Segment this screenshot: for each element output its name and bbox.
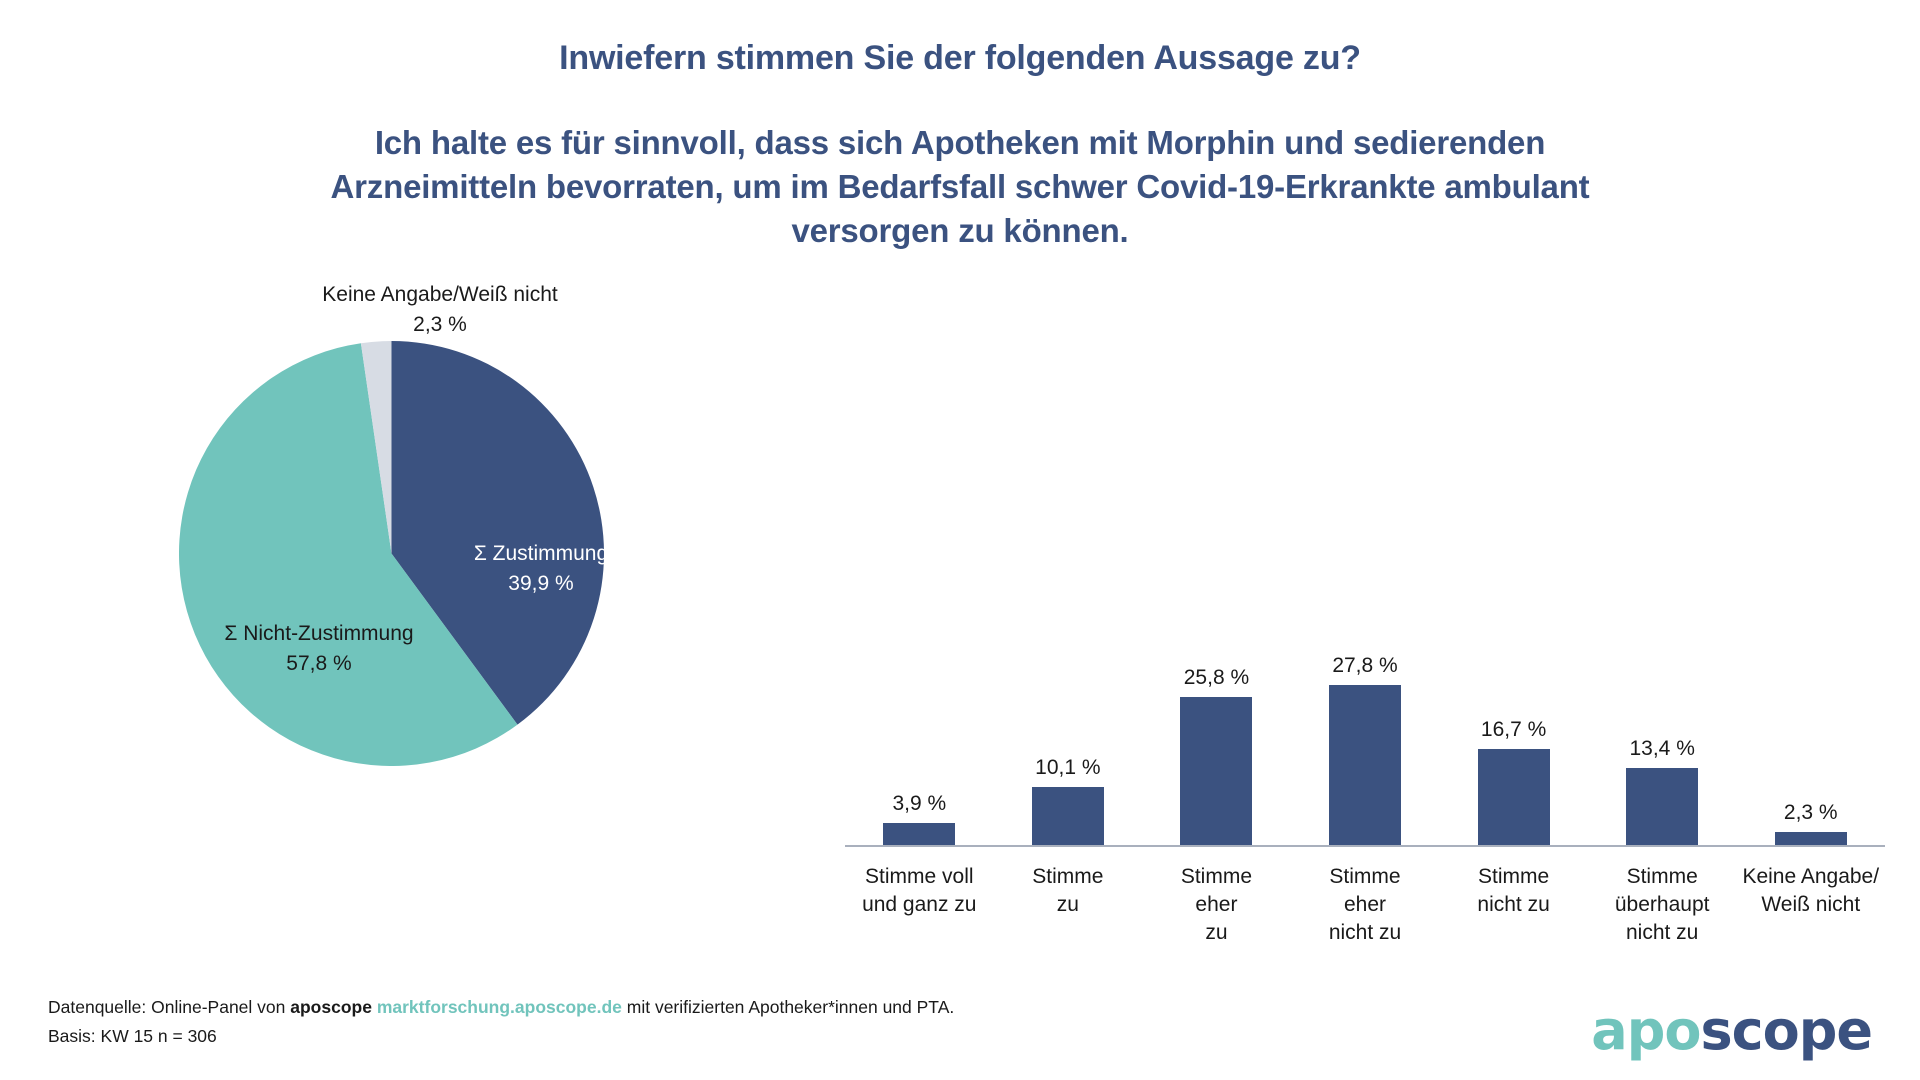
page-title: Inwiefern stimmen Sie der folgenden Auss… <box>0 0 1920 79</box>
pie-callout-label-value: 2,3 % <box>413 313 467 336</box>
bar-item[interactable]: 25,8 % <box>1142 650 1291 845</box>
statement-line-2: Arzneimitteln bevorraten, um im Bedarfsf… <box>0 165 1920 209</box>
bar-item[interactable]: 10,1 % <box>994 650 1143 845</box>
chart-header: Inwiefern stimmen Sie der folgenden Auss… <box>0 0 1920 252</box>
bar-value-label: 2,3 % <box>1784 801 1838 825</box>
pie-graphic: Σ Zustimmung 39,9 % Σ Nicht-Zustimmung 5… <box>179 341 604 766</box>
bar-rect[interactable] <box>1626 768 1698 845</box>
source-brand: aposcope <box>290 997 372 1017</box>
bar-category-label: Stimme eher zu <box>1142 850 1291 947</box>
footer-source: Datenquelle: Online-Panel von aposcope m… <box>48 993 954 1050</box>
bar-rect[interactable] <box>1032 787 1104 845</box>
bar-value-label: 16,7 % <box>1481 718 1546 742</box>
pie-chart: Keine Angabe/Weiß nicht 2,3 % Σ Zustimmu… <box>120 300 760 820</box>
bar-rect[interactable] <box>883 823 955 845</box>
source-suffix: mit verifizierten Apotheker*innen und PT… <box>622 997 954 1017</box>
bar-series: 3,9 %10,1 %25,8 %27,8 %16,7 %13,4 %2,3 % <box>845 650 1885 845</box>
bar-value-label: 25,8 % <box>1184 666 1249 690</box>
bar-item[interactable]: 16,7 % <box>1439 650 1588 845</box>
aposcope-logo: aposcope <box>1591 1004 1872 1058</box>
pie-callout-label-text: Keine Angabe/Weiß nicht <box>322 283 557 306</box>
pie-svg <box>179 341 604 766</box>
source-prefix: Datenquelle: Online-Panel von <box>48 997 290 1017</box>
statement-line-1: Ich halte es für sinnvoll, dass sich Apo… <box>0 121 1920 165</box>
source-basis: Basis: KW 15 n = 306 <box>48 1022 954 1050</box>
bar-item[interactable]: 27,8 % <box>1291 650 1440 845</box>
bar-category-label: Stimme nicht zu <box>1439 850 1588 919</box>
source-link[interactable]: marktforschung.aposcope.de <box>377 997 622 1017</box>
bar-rect[interactable] <box>1775 832 1847 845</box>
logo-part-apo: apo <box>1591 999 1700 1062</box>
statement-line-3: versorgen zu können. <box>0 209 1920 253</box>
bar-item[interactable]: 13,4 % <box>1588 650 1737 845</box>
logo-part-scope: scope <box>1700 999 1872 1062</box>
bar-rect[interactable] <box>1329 685 1401 845</box>
bar-category-label: Stimme voll und ganz zu <box>845 850 994 919</box>
bar-category-label: Stimme überhaupt nicht zu <box>1588 850 1737 947</box>
bar-category-label: Keine Angabe/ Weiß nicht <box>1736 850 1885 919</box>
bar-item[interactable]: 2,3 % <box>1736 650 1885 845</box>
bar-rect[interactable] <box>1180 697 1252 845</box>
pie-callout-no-answer: Keine Angabe/Weiß nicht 2,3 % <box>260 280 620 341</box>
bar-value-label: 3,9 % <box>892 792 946 816</box>
bar-value-label: 27,8 % <box>1332 654 1397 678</box>
bar-category-labels: Stimme voll und ganz zuStimme zuStimme e… <box>845 850 1885 970</box>
bar-value-label: 13,4 % <box>1629 737 1694 761</box>
bar-axis-line <box>845 845 1885 847</box>
statement-text: Ich halte es für sinnvoll, dass sich Apo… <box>0 79 1920 253</box>
bar-chart: 3,9 %10,1 %25,8 %27,8 %16,7 %13,4 %2,3 %… <box>845 560 1885 980</box>
bar-category-label: Stimme eher nicht zu <box>1291 850 1440 947</box>
bar-value-label: 10,1 % <box>1035 756 1100 780</box>
bar-category-label: Stimme zu <box>994 850 1143 919</box>
bar-rect[interactable] <box>1478 749 1550 845</box>
bar-item[interactable]: 3,9 % <box>845 650 994 845</box>
